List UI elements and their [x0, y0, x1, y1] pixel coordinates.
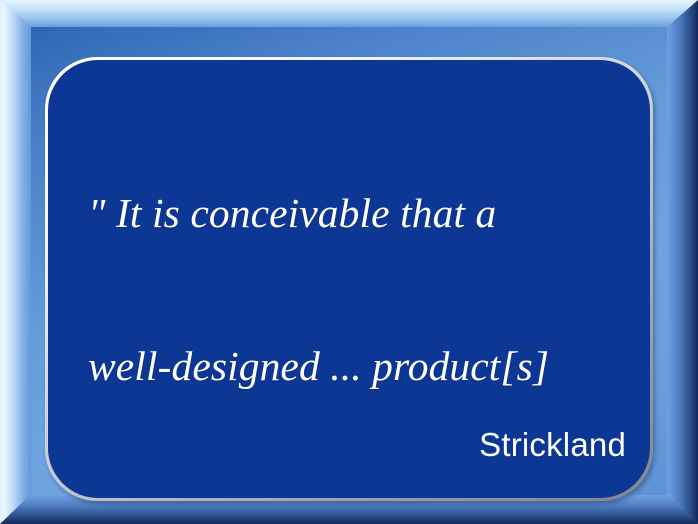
quote-panel-outline: " It is conceivable that a well-designed… [45, 57, 653, 501]
quote-line-1: " It is conceivable that a [88, 188, 624, 239]
quote-line-2: well-designed ... product[s] [88, 341, 624, 392]
frame-bevel-top [0, 0, 698, 27]
quote-line-3: could fail if instructors and [88, 494, 624, 498]
quote-attribution: Strickland [479, 426, 626, 464]
frame-bevel-right [667, 0, 698, 524]
slide-plate: " It is conceivable that a well-designed… [31, 27, 667, 495]
frame-bevel-left [0, 0, 31, 524]
quote-slide: " It is conceivable that a well-designed… [0, 0, 698, 524]
quote-panel: " It is conceivable that a well-designed… [48, 60, 650, 498]
